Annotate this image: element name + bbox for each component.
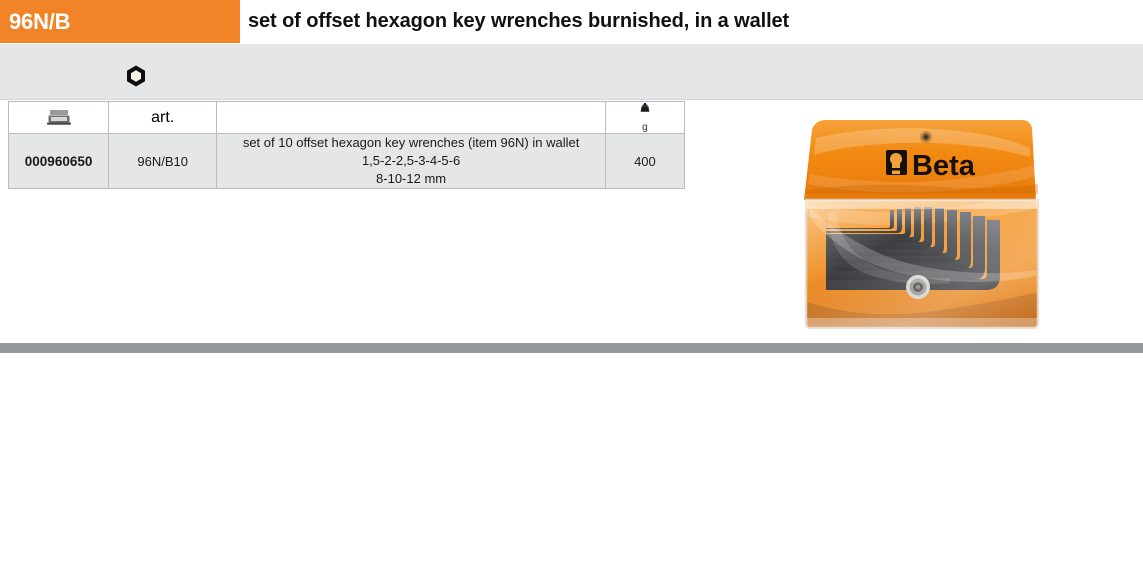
weight-icon [640, 103, 650, 121]
barcode-icon [9, 102, 108, 133]
column-header-weight: g [605, 102, 684, 134]
cell-art: 96N/B10 [109, 134, 217, 189]
attribute-icon-band-inner [0, 44, 1060, 99]
attribute-icon-band [0, 44, 1143, 100]
description-line-1: set of 10 offset hexagon key wrenches (i… [217, 134, 605, 152]
table-row: 000960650 96N/B10 set of 10 offset hexag… [9, 134, 685, 189]
product-variants-table: art. g 000960650 96N/B10 [8, 101, 685, 189]
page-title: set of offset hexagon key wrenches burni… [248, 0, 789, 43]
weight-unit-label: g [642, 123, 648, 133]
page-header: 96N/B set of offset hexagon key wrenches… [0, 0, 1143, 43]
cell-barcode: 000960650 [9, 134, 109, 189]
cell-weight: 400 [605, 134, 684, 189]
product-code-block: 96N/B [0, 0, 240, 43]
column-header-art: art. [109, 102, 217, 134]
description-line-3: 8-10-12 mm [217, 170, 605, 188]
hexagon-socket-icon [124, 64, 148, 88]
beta-wallet-hex-key-set-photo: Beta [796, 112, 1048, 334]
section-divider [0, 343, 1143, 353]
product-code: 96N/B [0, 11, 70, 33]
cell-description: set of 10 offset hexagon key wrenches (i… [217, 134, 606, 189]
svg-text:Beta: Beta [912, 150, 976, 182]
column-header-description [217, 102, 606, 134]
column-header-barcode [9, 102, 109, 134]
description-line-2: 1,5-2-2,5-3-4-5-6 [217, 152, 605, 170]
page-body-empty-area [0, 353, 1143, 586]
table-header-row: art. g [9, 102, 685, 134]
